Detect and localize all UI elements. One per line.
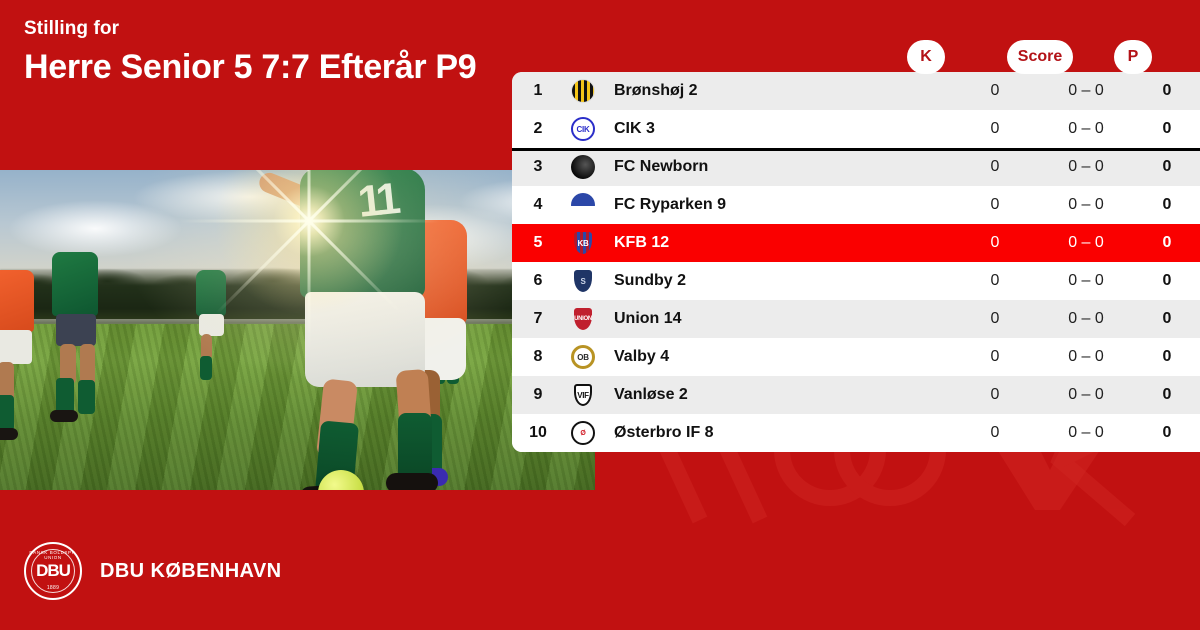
- column-header-k: K: [907, 40, 945, 74]
- cell-rank: 5: [512, 234, 564, 252]
- cell-matches-played: 0: [952, 348, 1038, 366]
- cell-goal-score: 0 – 0: [1038, 196, 1134, 214]
- cell-matches-played: 0: [952, 310, 1038, 328]
- cell-crest: CIK: [564, 117, 602, 141]
- table-row[interactable]: 4FC Ryparken 900 – 00: [512, 186, 1200, 224]
- cell-goal-score: 0 – 0: [1038, 82, 1134, 100]
- union-crest: UNION: [571, 307, 595, 331]
- cell-team-name: KFB 12: [602, 234, 952, 252]
- cell-goal-score: 0 – 0: [1038, 348, 1134, 366]
- cell-goal-score: 0 – 0: [1038, 272, 1134, 290]
- cell-team-name: Østerbro IF 8: [602, 424, 952, 442]
- cell-crest: [564, 79, 602, 103]
- cell-rank: 3: [512, 158, 564, 176]
- cell-team-name: Brønshøj 2: [602, 82, 952, 100]
- cell-points: 0: [1134, 272, 1200, 290]
- cell-rank: 6: [512, 272, 564, 290]
- cell-matches-played: 0: [952, 82, 1038, 100]
- cik-crest: CIK: [571, 117, 595, 141]
- osterbro-crest: Ø: [571, 421, 595, 445]
- column-header-score: Score: [1007, 40, 1073, 74]
- cell-team-name: Vanløse 2: [602, 386, 952, 404]
- cell-team-name: Valby 4: [602, 348, 952, 366]
- footer-org-name: DBU KØBENHAVN: [100, 560, 282, 583]
- cell-matches-played: 0: [952, 158, 1038, 176]
- cell-rank: 1: [512, 82, 564, 100]
- cell-team-name: Union 14: [602, 310, 952, 328]
- emblem-year: 1889: [26, 585, 80, 591]
- emblem-arc-text: DANSK BOLDSPIL UNION: [26, 550, 80, 560]
- table-row[interactable]: 6SSundby 200 – 00: [512, 262, 1200, 300]
- cell-matches-played: 0: [952, 272, 1038, 290]
- cell-rank: 8: [512, 348, 564, 366]
- cell-rank: 9: [512, 386, 564, 404]
- cell-rank: 10: [512, 424, 564, 442]
- sundby-crest: S: [571, 269, 595, 293]
- cell-rank: 7: [512, 310, 564, 328]
- table-row[interactable]: 7UNIONUnion 1400 – 00: [512, 300, 1200, 338]
- table-row[interactable]: 5KBKFB 1200 – 00: [512, 224, 1200, 262]
- page-title: Herre Senior 5 7:7 Efterår P9: [24, 48, 494, 87]
- valby-crest: OB: [571, 345, 595, 369]
- cell-goal-score: 0 – 0: [1038, 158, 1134, 176]
- cell-crest: VIF: [564, 383, 602, 407]
- cell-points: 0: [1134, 348, 1200, 366]
- cell-matches-played: 0: [952, 386, 1038, 404]
- football-match-photo: 11: [0, 170, 595, 490]
- cell-points: 0: [1134, 120, 1200, 138]
- cell-team-name: CIK 3: [602, 120, 952, 138]
- cell-goal-score: 0 – 0: [1038, 310, 1134, 328]
- cell-crest: Ø: [564, 421, 602, 445]
- cell-team-name: FC Ryparken 9: [602, 196, 952, 214]
- cell-crest: [564, 193, 602, 217]
- fc-newborn-crest: [571, 155, 595, 179]
- fc-ryparken-crest: [571, 193, 595, 217]
- cell-goal-score: 0 – 0: [1038, 120, 1134, 138]
- cell-team-name: Sundby 2: [602, 272, 952, 290]
- table-row[interactable]: 2CIKCIK 300 – 00: [512, 110, 1200, 148]
- cell-crest: UNION: [564, 307, 602, 331]
- table-row[interactable]: 8OBValby 400 – 00: [512, 338, 1200, 376]
- dbu-emblem-icon: DANSK BOLDSPIL UNION DBU 1889: [24, 542, 82, 600]
- cell-goal-score: 0 – 0: [1038, 424, 1134, 442]
- cell-goal-score: 0 – 0: [1038, 386, 1134, 404]
- cell-crest: OB: [564, 345, 602, 369]
- header-title-block: Stilling for Herre Senior 5 7:7 Efterår …: [24, 18, 494, 87]
- cell-crest: [564, 155, 602, 179]
- cell-rank: 4: [512, 196, 564, 214]
- cell-crest: KB: [564, 231, 602, 255]
- footer-brand: DANSK BOLDSPIL UNION DBU 1889 DBU KØBENH…: [24, 542, 282, 600]
- table-row[interactable]: 3FC Newborn00 – 00: [512, 148, 1200, 186]
- table-row[interactable]: 1Brønshøj 200 – 00: [512, 72, 1200, 110]
- cell-goal-score: 0 – 0: [1038, 234, 1134, 252]
- table-header-pills: K Score P: [512, 40, 1200, 74]
- cell-points: 0: [1134, 158, 1200, 176]
- kfb-crest: KB: [571, 231, 595, 255]
- page-kicker: Stilling for: [24, 18, 494, 41]
- cell-points: 0: [1134, 82, 1200, 100]
- cell-points: 0: [1134, 196, 1200, 214]
- table-row[interactable]: 10ØØsterbro IF 800 – 00: [512, 414, 1200, 452]
- vanlose-crest: VIF: [571, 383, 595, 407]
- cell-team-name: FC Newborn: [602, 158, 952, 176]
- table-row[interactable]: 9VIFVanløse 200 – 00: [512, 376, 1200, 414]
- cell-matches-played: 0: [952, 196, 1038, 214]
- emblem-mark: DBU: [36, 561, 70, 581]
- cell-rank: 2: [512, 120, 564, 138]
- cell-points: 0: [1134, 310, 1200, 328]
- standings-table: 1Brønshøj 200 – 002CIKCIK 300 – 003FC Ne…: [512, 72, 1200, 452]
- cell-matches-played: 0: [952, 424, 1038, 442]
- cell-crest: S: [564, 269, 602, 293]
- bronshoj-crest: [571, 79, 595, 103]
- column-header-p: P: [1114, 40, 1152, 74]
- cell-points: 0: [1134, 386, 1200, 404]
- cell-points: 0: [1134, 234, 1200, 252]
- cell-matches-played: 0: [952, 120, 1038, 138]
- photo-sun-ray-v: [308, 170, 311, 351]
- cell-matches-played: 0: [952, 234, 1038, 252]
- cell-points: 0: [1134, 424, 1200, 442]
